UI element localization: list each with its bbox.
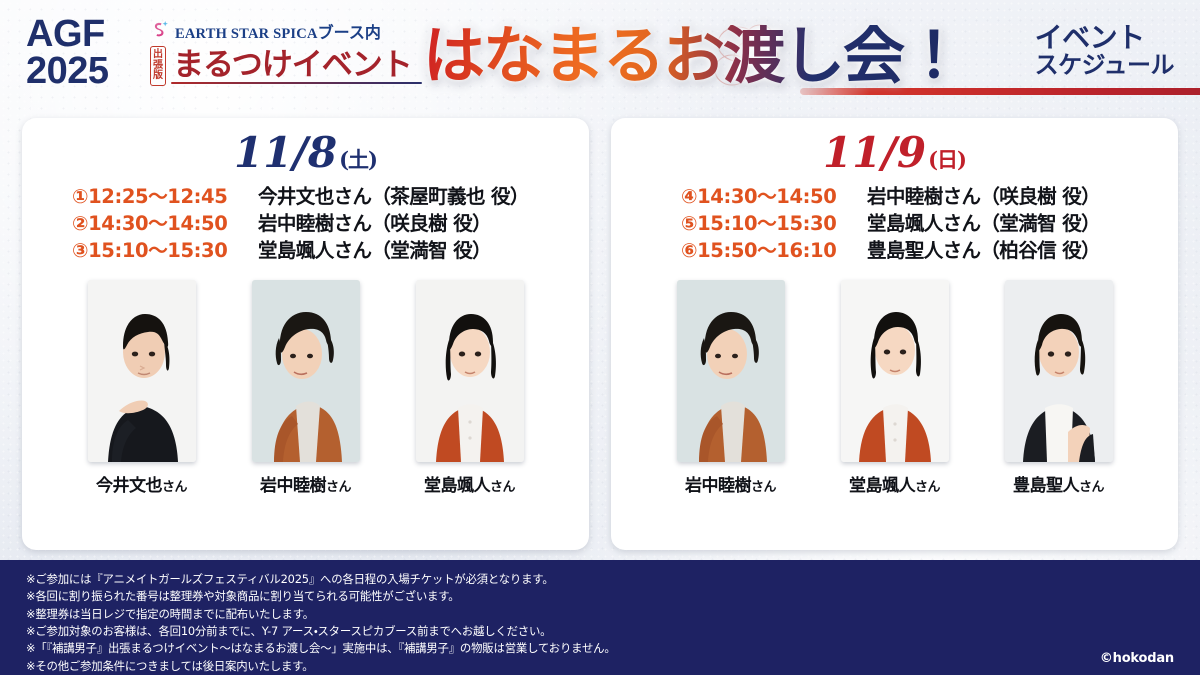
spica-brand-suffix: ブース内	[318, 25, 381, 42]
schedule-performer: 岩中睦樹さん（咲良樹 役）	[867, 184, 1100, 210]
header-banner: AGF 2025 EARTH STA	[0, 0, 1200, 112]
cast-row-day-2: 岩中睦樹さん	[623, 280, 1166, 496]
main-title: はなまるお渡し会！	[423, 25, 963, 87]
portrait-iwanaka-mutsuki	[677, 280, 785, 462]
cast-name: 豊島聖人さん	[1013, 471, 1104, 496]
date-day-2: 11/9	[823, 132, 926, 174]
schedule-row: ④14:30〜14:50 岩中睦樹さん（咲良樹 役）	[681, 184, 1166, 210]
panel-day-1: 11/8 (土) ①12:25〜12:45 今井文也さん（茶屋町義也 役） ②1…	[22, 118, 589, 550]
date-day-1: 11/8	[234, 132, 337, 174]
dow-day-2: (日)	[928, 149, 966, 170]
footer-notes-band: ※ご参加には『アニメイトガールズフェスティバル2025』への各日程の入場チケット…	[0, 560, 1200, 675]
footer-note-line: ※各回に割り振られた番号は整理券や対象商品に割り当てられる可能性がございます。	[26, 588, 1178, 605]
footer-note-line: ※ご参加には『アニメイトガールズフェスティバル2025』への各日程の入場チケット…	[26, 571, 1178, 588]
poster-root: AGF 2025 EARTH STA	[0, 0, 1200, 675]
panel-day-2: 11/9 (日) ④14:30〜14:50 岩中睦樹さん（咲良樹 役） ⑤15:…	[611, 118, 1178, 550]
schedule-row: ⑥15:50〜16:10 豊島聖人さん（柏谷信 役）	[681, 238, 1166, 264]
agf-logo: AGF 2025	[26, 16, 146, 90]
event-schedule-line2: スケジュール	[1035, 53, 1174, 80]
cast-card: 豊島聖人さん	[989, 280, 1129, 496]
portrait-iwanaka-mutsuki	[252, 280, 360, 462]
date-heading-day-2: 11/9 (日)	[823, 132, 966, 174]
schedule-performer: 岩中睦樹さん（咲良樹 役）	[258, 211, 491, 237]
spica-brand-name: EARTH STAR SPICA	[175, 26, 318, 42]
event-schedule-label: イベント スケジュール	[1035, 22, 1174, 80]
cast-name: 今井文也さん	[96, 471, 187, 496]
schedule-row: ①12:25〜12:45 今井文也さん（茶屋町義也 役）	[72, 184, 577, 210]
schedule-list-day-2: ④14:30〜14:50 岩中睦樹さん（咲良樹 役） ⑤15:10〜15:30 …	[623, 184, 1166, 264]
copyright-credit: ©hokodan	[1100, 651, 1174, 666]
event-schedule-line1: イベント	[1035, 22, 1174, 53]
footer-note-line: ※その他ご参加条件につきましては後日案内いたします。	[26, 658, 1178, 675]
schedule-performer: 豊島聖人さん（柏谷信 役）	[867, 238, 1100, 264]
spica-brand-text: EARTH STAR SPICAブース内	[175, 19, 381, 43]
dow-day-1: (土)	[339, 149, 377, 170]
agf-logo-line1: AGF	[26, 13, 105, 55]
schedule-row: ②14:30〜14:50 岩中睦樹さん（咲良樹 役）	[72, 211, 577, 237]
schedule-row: ③15:10〜15:30 堂島颯人さん（堂満智 役）	[72, 238, 577, 264]
main-title-area: はなまるお渡し会！	[398, 8, 988, 104]
portrait-dojima-hayato	[416, 280, 524, 462]
cast-name: 岩中睦樹さん	[685, 471, 776, 496]
cast-card: 堂島颯人さん	[825, 280, 965, 496]
schedule-panels: 11/8 (土) ①12:25〜12:45 今井文也さん（茶屋町義也 役） ②1…	[22, 118, 1178, 550]
cast-name: 堂島颯人さん	[849, 471, 940, 496]
stamp-line2: 版	[153, 71, 163, 82]
cast-card: 今井文也さん	[72, 280, 212, 496]
schedule-time: ③15:10〜15:30	[72, 238, 258, 264]
spica-sparkle-icon	[150, 20, 170, 42]
schedule-time: ⑥15:50〜16:10	[681, 238, 867, 264]
schedule-performer: 今井文也さん（茶屋町義也 役）	[258, 184, 529, 210]
spica-brand-row: EARTH STAR SPICAブース内	[150, 20, 400, 42]
date-heading-day-1: 11/8 (土)	[234, 132, 377, 174]
maru-event-title: まるつけイベント	[173, 50, 412, 81]
agf-logo-line2: 2025	[26, 53, 146, 90]
footer-note-line: ※ご参加対象のお客様は、各回10分前までに、Y-7 アース・スタースピカブース前…	[26, 623, 1178, 640]
footer-note-line: ※整理券は当日レジで指定の時間までに配布いたします。	[26, 606, 1178, 623]
schedule-list-day-1: ①12:25〜12:45 今井文也さん（茶屋町義也 役） ②14:30〜14:5…	[34, 184, 577, 264]
shutcho-stamp-icon: 出張 版	[150, 46, 166, 86]
schedule-performer: 堂島颯人さん（堂満智 役）	[258, 238, 491, 264]
cast-card: 岩中睦樹さん	[236, 280, 376, 496]
portrait-toyoshima-masato	[1005, 280, 1113, 462]
footer-note-line: ※「『補講男子』出張まるつけイベント〜はなまるお渡し会〜」実施中は、『補講男子』…	[26, 640, 1178, 657]
cast-row-day-1: 今井文也さん	[34, 280, 577, 496]
schedule-time: ⑤15:10〜15:30	[681, 211, 867, 237]
cast-card: 堂島颯人さん	[400, 280, 540, 496]
cast-card: 岩中睦樹さん	[661, 280, 801, 496]
schedule-time: ④14:30〜14:50	[681, 184, 867, 210]
maru-event-row: 出張 版 まるつけイベント	[150, 46, 400, 86]
schedule-time: ②14:30〜14:50	[72, 211, 258, 237]
schedule-time: ①12:25〜12:45	[72, 184, 258, 210]
schedule-performer: 堂島颯人さん（堂満智 役）	[867, 211, 1100, 237]
portrait-dojima-hayato	[841, 280, 949, 462]
stamp-line1: 出張	[153, 50, 163, 71]
portrait-imai-fumiya	[88, 280, 196, 462]
cast-name: 堂島颯人さん	[424, 471, 515, 496]
cast-name: 岩中睦樹さん	[260, 471, 351, 496]
spica-event-logo: EARTH STAR SPICAブース内 出張 版 まるつけイベント	[150, 20, 400, 86]
schedule-row: ⑤15:10〜15:30 堂島颯人さん（堂満智 役）	[681, 211, 1166, 237]
